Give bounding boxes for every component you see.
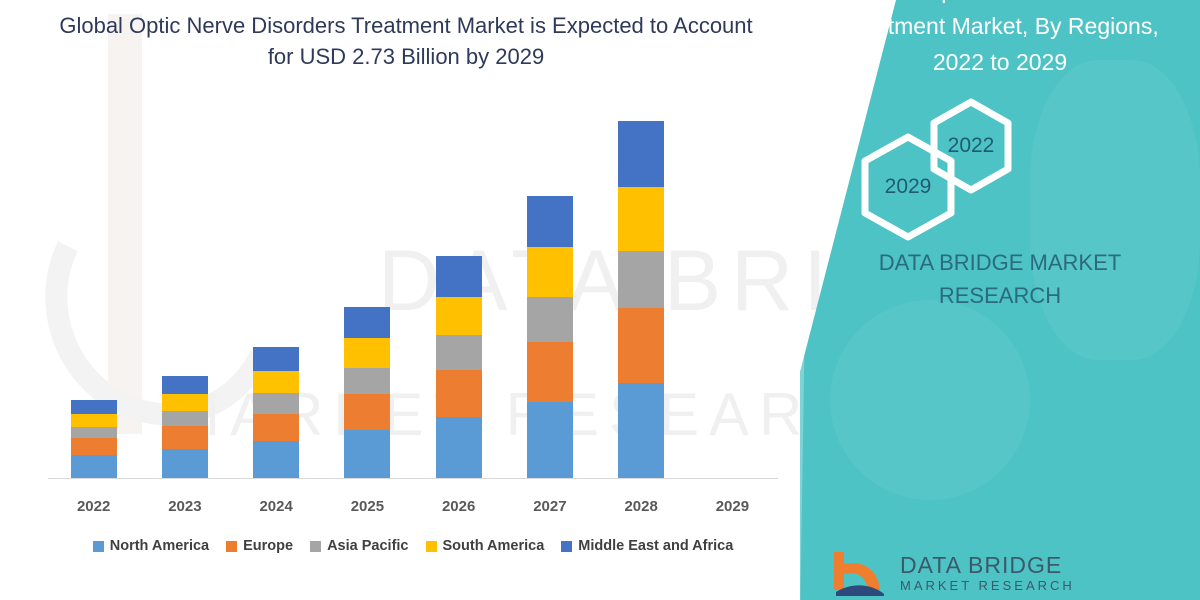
x-axis-label-2027: 2027 xyxy=(504,498,595,515)
bar-segment-2022-north-america[interactable] xyxy=(71,455,117,478)
bar-segment-2027-south-america[interactable] xyxy=(527,247,573,297)
legend-swatch-icon xyxy=(426,541,437,552)
chart-plot-area xyxy=(48,110,778,478)
bar-segment-2025-north-america[interactable] xyxy=(344,430,390,478)
bar-column-2026[interactable] xyxy=(413,256,504,478)
footer-logo-sub: MARKET RESEARCH xyxy=(900,578,1075,593)
legend-item-asia-pacific[interactable]: Asia Pacific xyxy=(310,538,408,554)
legend-label: Middle East and Africa xyxy=(578,538,733,554)
bar-segment-2023-south-america[interactable] xyxy=(162,394,208,411)
bar-segment-2026-middle-east-and-africa[interactable] xyxy=(436,256,482,296)
x-axis-labels: 20222023202420252026202720282029 xyxy=(48,498,778,522)
chart-region: Global Optic Nerve Disorders Treatment M… xyxy=(0,0,810,600)
legend-label: South America xyxy=(443,538,545,554)
panel-brand-line-1: DATA BRIDGE MARKET xyxy=(800,246,1200,279)
stacked-bar-2027[interactable] xyxy=(527,196,573,478)
stacked-bar-2022[interactable] xyxy=(71,400,117,478)
stacked-bar-2023[interactable] xyxy=(162,376,208,478)
x-axis-label-2022: 2022 xyxy=(48,498,139,515)
stacked-bar-2026[interactable] xyxy=(436,256,482,478)
bar-segment-2024-south-america[interactable] xyxy=(253,371,299,393)
legend-label: Europe xyxy=(243,538,293,554)
bar-column-2022[interactable] xyxy=(48,400,139,478)
bar-segment-2024-north-america[interactable] xyxy=(253,441,299,478)
legend-swatch-icon xyxy=(226,541,237,552)
bar-segment-2025-europe[interactable] xyxy=(344,394,390,430)
x-axis-label-2025: 2025 xyxy=(322,498,413,515)
bar-segment-2023-asia-pacific[interactable] xyxy=(162,411,208,427)
hex-badge-2029-label: 2029 xyxy=(885,175,932,199)
legend-label: North America xyxy=(110,538,209,554)
x-axis-label-2023: 2023 xyxy=(139,498,230,515)
bar-segment-2024-middle-east-and-africa[interactable] xyxy=(253,347,299,371)
bar-column-2025[interactable] xyxy=(322,307,413,478)
right-info-panel: Global Optic Nerve Disorders Treatment M… xyxy=(800,0,1200,600)
bar-column-2027[interactable] xyxy=(504,196,595,478)
legend-item-south-america[interactable]: South America xyxy=(426,538,545,554)
bar-segment-2026-europe[interactable] xyxy=(436,370,482,417)
bar-segment-2022-europe[interactable] xyxy=(71,438,117,455)
bar-column-2028[interactable] xyxy=(596,121,687,478)
panel-brand-line-2: RESEARCH xyxy=(800,279,1200,312)
bar-column-2024[interactable] xyxy=(231,347,322,478)
bar-segment-2022-middle-east-and-africa[interactable] xyxy=(71,400,117,414)
panel-brand: DATA BRIDGE MARKET RESEARCH xyxy=(800,246,1200,312)
bar-segment-2028-middle-east-and-africa[interactable] xyxy=(618,121,664,187)
bar-segment-2026-north-america[interactable] xyxy=(436,417,482,478)
data-bridge-logo-icon xyxy=(830,550,888,596)
bar-segment-2024-europe[interactable] xyxy=(253,414,299,442)
bar-segment-2025-middle-east-and-africa[interactable] xyxy=(344,307,390,338)
x-axis-label-2024: 2024 xyxy=(231,498,322,515)
footer-logo-brand: DATA BRIDGE xyxy=(900,553,1075,578)
bar-column-2023[interactable] xyxy=(139,376,230,478)
stacked-bar-2024[interactable] xyxy=(253,347,299,478)
bar-segment-2023-europe[interactable] xyxy=(162,426,208,448)
bar-segment-2023-middle-east-and-africa[interactable] xyxy=(162,376,208,394)
chart-legend: North AmericaEuropeAsia PacificSouth Ame… xyxy=(48,538,778,554)
legend-label: Asia Pacific xyxy=(327,538,408,554)
legend-swatch-icon xyxy=(561,541,572,552)
bar-segment-2026-south-america[interactable] xyxy=(436,297,482,336)
x-axis-line xyxy=(48,478,778,479)
bar-segment-2022-south-america[interactable] xyxy=(71,414,117,427)
x-axis-label-2026: 2026 xyxy=(413,498,504,515)
legend-item-middle-east-and-africa[interactable]: Middle East and Africa xyxy=(561,538,733,554)
stacked-bar-2025[interactable] xyxy=(344,307,390,478)
chart-title: Global Optic Nerve Disorders Treatment M… xyxy=(46,10,766,72)
hexagon-badge-group: 2029 2022 xyxy=(820,92,1180,224)
bar-segment-2025-south-america[interactable] xyxy=(344,338,390,367)
panel-title: Global Optic Nerve Disorders Treatment M… xyxy=(800,0,1200,80)
panel-decoration-blob-a xyxy=(830,300,1030,500)
bar-segment-2025-asia-pacific[interactable] xyxy=(344,368,390,395)
bar-segment-2024-asia-pacific[interactable] xyxy=(253,393,299,413)
stacked-bar-2028[interactable] xyxy=(618,121,664,478)
bar-segment-2027-north-america[interactable] xyxy=(527,402,573,478)
legend-swatch-icon xyxy=(93,541,104,552)
legend-swatch-icon xyxy=(310,541,321,552)
bar-segment-2028-south-america[interactable] xyxy=(618,187,664,250)
x-axis-label-2028: 2028 xyxy=(596,498,687,515)
bar-segment-2027-europe[interactable] xyxy=(527,342,573,402)
bar-segment-2026-asia-pacific[interactable] xyxy=(436,335,482,370)
bar-segment-2027-middle-east-and-africa[interactable] xyxy=(527,196,573,248)
hex-badge-2022-label: 2022 xyxy=(948,134,995,158)
bar-segment-2022-asia-pacific[interactable] xyxy=(71,427,117,439)
legend-item-north-america[interactable]: North America xyxy=(93,538,209,554)
footer-logo: DATA BRIDGE MARKET RESEARCH xyxy=(830,550,1075,596)
hex-badge-2022: 2022 xyxy=(928,98,1014,194)
bar-segment-2027-asia-pacific[interactable] xyxy=(527,297,573,342)
bar-segment-2023-north-america[interactable] xyxy=(162,449,208,478)
x-axis-label-2029: 2029 xyxy=(687,498,778,515)
legend-item-europe[interactable]: Europe xyxy=(226,538,293,554)
bar-segment-2028-north-america[interactable] xyxy=(618,383,664,478)
bar-segment-2028-europe[interactable] xyxy=(618,308,664,383)
bar-segment-2028-asia-pacific[interactable] xyxy=(618,251,664,308)
